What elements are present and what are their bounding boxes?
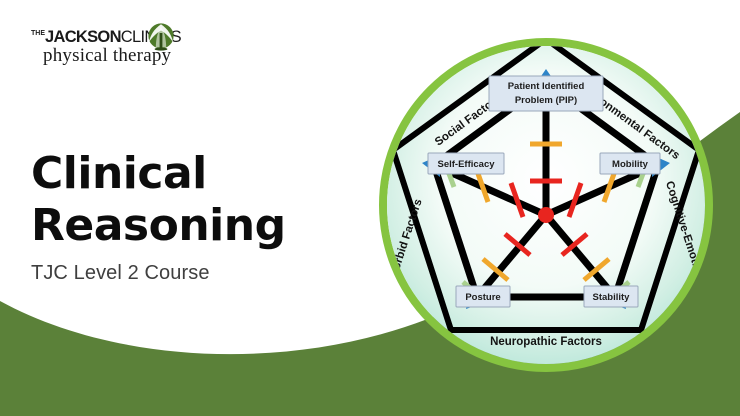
node-stability-label: Stability — [593, 292, 631, 303]
page-title-line1: Clinical — [31, 148, 361, 200]
logo-the: THE — [31, 30, 45, 37]
center-hub — [538, 207, 554, 223]
node-self-efficacy-label: Self-Efficacy — [437, 159, 495, 170]
node-posture-label: Posture — [465, 292, 500, 303]
node-stability[interactable]: Stability — [584, 286, 638, 307]
edge-label-neuropathic: Neuropathic Factors — [490, 336, 602, 348]
node-mobility-label: Mobility — [612, 159, 649, 170]
page-subtitle: TJC Level 2 Course — [31, 262, 361, 285]
node-posture[interactable]: Posture — [456, 286, 510, 307]
node-mobility[interactable]: Mobility — [600, 153, 660, 174]
clinical-reasoning-diagram: Social Factors Environmental Factors Co-… — [360, 37, 740, 383]
page-title-line2: Reasoning — [31, 200, 361, 252]
logo-jackson: JACKSON — [45, 28, 121, 46]
headline-block: Clinical Reasoning TJC Level 2 Course — [31, 148, 361, 285]
node-self-efficacy[interactable]: Self-Efficacy — [428, 153, 504, 174]
brand-logo: THEJACKSONCLINICS physical therapy — [31, 25, 191, 73]
node-pip-label-line2: Problem (PIP) — [515, 95, 577, 106]
tree-mark-icon — [143, 23, 179, 53]
node-pip[interactable]: Patient Identified Problem (PIP) — [489, 76, 603, 111]
slide-root: THEJACKSONCLINICS physical therapy Clini… — [0, 0, 740, 416]
node-pip-label-line1: Patient Identified — [508, 81, 585, 92]
